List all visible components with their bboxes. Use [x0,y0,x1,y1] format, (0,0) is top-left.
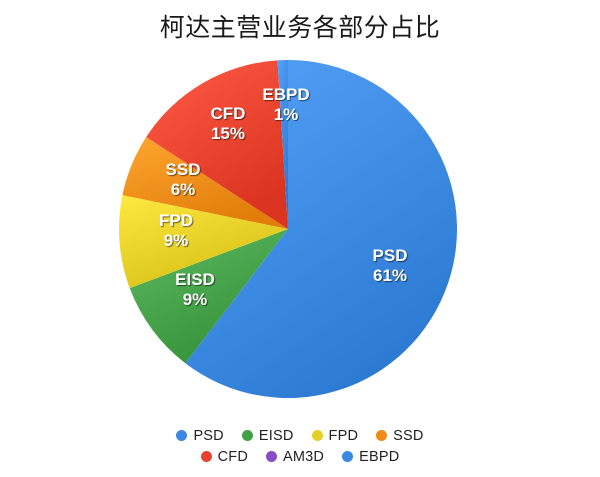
legend-label: CFD [218,449,248,465]
legend-row: CFDAM3DEBPD [0,446,600,467]
chart-legend: PSDEISDFPDSSDCFDAM3DEBPD [0,425,600,467]
legend-item-fpd[interactable]: FPD [312,428,359,444]
legend-item-ebpd[interactable]: EBPD [342,449,399,465]
pie-chart: 柯达主营业务各部分占比 PSD61%EISD9%FPD9%SSD6%CFD15%… [0,0,600,477]
legend-label: SSD [393,428,423,444]
legend-label: AM3D [283,449,324,465]
legend-swatch-icon [376,430,387,441]
legend-label: EBPD [359,449,399,465]
pie-slices-group [119,60,457,398]
pie-plot-area: PSD61%EISD9%FPD9%SSD6%CFD15%EBPD1% [0,0,600,410]
legend-label: PSD [193,428,223,444]
legend-item-cfd[interactable]: CFD [201,449,248,465]
legend-item-eisd[interactable]: EISD [242,428,294,444]
legend-item-ssd[interactable]: SSD [376,428,423,444]
legend-item-am3d[interactable]: AM3D [266,449,324,465]
legend-swatch-icon [242,430,253,441]
legend-swatch-icon [201,451,212,462]
legend-label: EISD [259,428,294,444]
legend-swatch-icon [176,430,187,441]
legend-swatch-icon [312,430,323,441]
legend-row: PSDEISDFPDSSD [0,425,600,446]
legend-swatch-icon [266,451,277,462]
legend-swatch-icon [342,451,353,462]
legend-item-psd[interactable]: PSD [176,428,223,444]
pie-svg [0,0,600,410]
legend-label: FPD [329,428,359,444]
